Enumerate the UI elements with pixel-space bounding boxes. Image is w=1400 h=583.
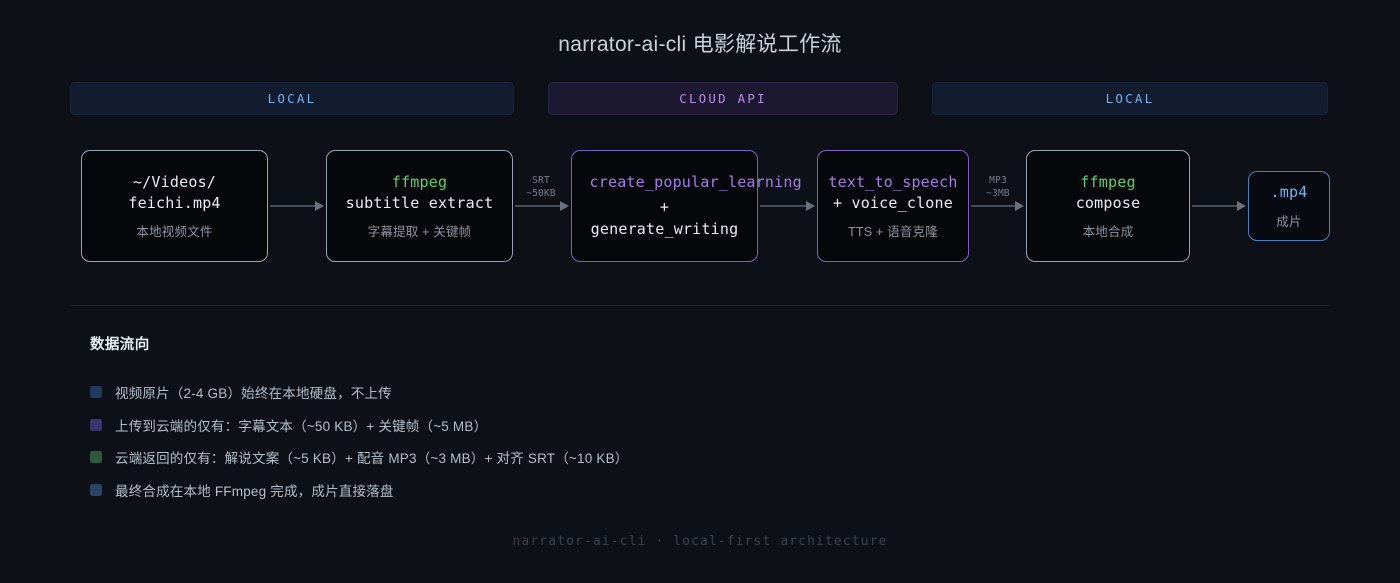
node-line-2: + generate_writing bbox=[590, 197, 740, 240]
zone-banner-cloud-api: CLOUD API bbox=[548, 82, 898, 115]
arrow-head-icon bbox=[560, 201, 569, 211]
zone-banner-local-2: LOCAL bbox=[932, 82, 1328, 115]
arrow-tts-to-compose bbox=[971, 201, 1024, 211]
node-line-1: text_to_speech bbox=[828, 172, 957, 193]
node-line-1: ffmpeg bbox=[392, 172, 447, 193]
arrow-compose-to-output bbox=[1192, 201, 1246, 211]
node-text-to-speech: text_to_speech + voice_clone TTS + 语音克隆 bbox=[817, 150, 969, 262]
page-title: narrator-ai-cli 电影解说工作流 bbox=[0, 28, 1400, 58]
node-output-mp4: .mp4 成片 bbox=[1248, 171, 1330, 241]
node-line-2: + voice_clone bbox=[833, 193, 953, 214]
edge-label-size: ~3MB bbox=[971, 188, 1025, 201]
legend-swatch-download bbox=[90, 451, 102, 463]
legend-swatch-upload bbox=[90, 419, 102, 431]
node-line-1: create_popular_learning bbox=[590, 172, 740, 193]
edge-label-mp3: MP3 ~3MB bbox=[971, 175, 1025, 201]
legend-item-label: 视频原片（2-4 GB）始终在本地硬盘，不上传 bbox=[115, 382, 392, 402]
node-line-2: compose bbox=[1076, 193, 1141, 214]
arrow-writing-to-tts bbox=[760, 201, 815, 211]
legend-item-label: 最终合成在本地 FFmpeg 完成，成片直接落盘 bbox=[115, 480, 394, 500]
arrow-extract-to-cloud bbox=[515, 201, 569, 211]
node-ffmpeg-compose: ffmpeg compose 本地合成 bbox=[1026, 150, 1190, 262]
node-source-video: ~/Videos/ feichi.mp4 本地视频文件 bbox=[81, 150, 268, 262]
footer-caption: narrator-ai-cli · local-first architectu… bbox=[0, 534, 1400, 549]
arrow-source-to-extract bbox=[270, 201, 324, 211]
edge-label-unit: SRT bbox=[514, 175, 568, 188]
edge-label-unit: MP3 bbox=[971, 175, 1025, 188]
zone-banner-label: LOCAL bbox=[268, 91, 317, 106]
legend-item-label: 云端返回的仅有：解说文案（~5 KB）+ 配音 MP3（~3 MB）+ 对齐 S… bbox=[115, 447, 629, 467]
legend-item-label: 上传到云端的仅有：字幕文本（~50 KB）+ 关键帧（~5 MB） bbox=[115, 415, 487, 435]
node-description: 成片 bbox=[1276, 211, 1301, 230]
legend-title: 数据流向 bbox=[90, 333, 629, 354]
node-description: 本地合成 bbox=[1083, 221, 1134, 240]
legend-swatch-local-video bbox=[90, 386, 102, 398]
node-line-2: feichi.mp4 bbox=[128, 193, 220, 214]
zone-banner-row: LOCAL CLOUD API LOCAL bbox=[70, 82, 1330, 115]
list-item: 上传到云端的仅有：字幕文本（~50 KB）+ 关键帧（~5 MB） bbox=[90, 409, 629, 442]
data-flow-legend: 数据流向 视频原片（2-4 GB）始终在本地硬盘，不上传 上传到云端的仅有：字幕… bbox=[90, 333, 629, 506]
zone-banner-label: CLOUD API bbox=[679, 91, 767, 106]
workflow-diagram-page: narrator-ai-cli 电影解说工作流 LOCAL CLOUD API … bbox=[0, 0, 1400, 583]
edge-label-size: ~50KB bbox=[514, 188, 568, 201]
section-divider bbox=[70, 305, 1330, 306]
arrow-head-icon bbox=[806, 201, 815, 211]
edge-label-srt: SRT ~50KB bbox=[514, 175, 568, 201]
node-ffmpeg-subtitle-extract: ffmpeg subtitle extract 字幕提取 + 关键帧 bbox=[326, 150, 513, 262]
zone-banner-label: LOCAL bbox=[1106, 91, 1155, 106]
list-item: 视频原片（2-4 GB）始终在本地硬盘，不上传 bbox=[90, 376, 629, 409]
pipeline-flow: ~/Videos/ feichi.mp4 本地视频文件 ffmpeg subti… bbox=[70, 147, 1330, 265]
node-line-1: ffmpeg bbox=[1080, 172, 1135, 193]
arrow-line bbox=[1192, 205, 1237, 206]
node-description: 本地视频文件 bbox=[136, 221, 212, 240]
arrow-line bbox=[760, 205, 806, 206]
node-line-1: .mp4 bbox=[1271, 182, 1308, 203]
arrow-head-icon bbox=[1237, 201, 1246, 211]
node-description: 字幕提取 + 关键帧 bbox=[368, 221, 472, 240]
arrow-line bbox=[971, 205, 1015, 206]
node-create-popular-learning: create_popular_learning + generate_writi… bbox=[571, 150, 758, 262]
node-description: TTS + 语音克隆 bbox=[848, 221, 938, 240]
node-line-2: subtitle extract bbox=[346, 193, 494, 214]
arrow-line bbox=[270, 205, 315, 206]
list-item: 云端返回的仅有：解说文案（~5 KB）+ 配音 MP3（~3 MB）+ 对齐 S… bbox=[90, 441, 629, 474]
zone-banner-local-1: LOCAL bbox=[70, 82, 514, 115]
legend-swatch-final-compose bbox=[90, 484, 102, 496]
arrow-head-icon bbox=[1015, 201, 1024, 211]
arrow-head-icon bbox=[315, 201, 324, 211]
arrow-line bbox=[515, 205, 560, 206]
node-line-1: ~/Videos/ bbox=[133, 172, 216, 193]
list-item: 最终合成在本地 FFmpeg 完成，成片直接落盘 bbox=[90, 474, 629, 507]
